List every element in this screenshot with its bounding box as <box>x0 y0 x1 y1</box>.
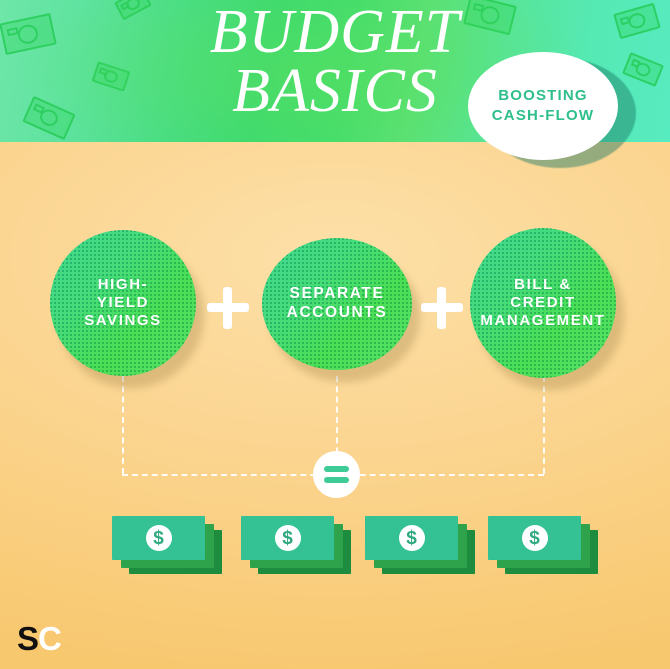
logo-letter-s: S <box>17 620 38 657</box>
connector-line-vertical <box>543 376 545 474</box>
title-line-1: BUDGET <box>0 4 670 61</box>
node-disc: SEPARATE ACCOUNTS <box>262 238 412 370</box>
node-label: HIGH- YIELD SAVINGS <box>84 276 162 331</box>
body-background <box>0 140 670 669</box>
money-stack: $ <box>365 516 475 578</box>
formula-node-separate-accounts[interactable]: SEPARATE ACCOUNTS <box>262 238 412 370</box>
node-disc: BILL & CREDIT MANAGEMENT <box>470 228 616 378</box>
bill-layer-front: $ <box>365 516 458 560</box>
dollar-icon: $ <box>275 525 301 551</box>
equals-bar-top <box>324 466 349 472</box>
equals-bar-bottom <box>324 477 349 483</box>
node-disc: HIGH- YIELD SAVINGS <box>50 230 196 376</box>
bill-layer-front: $ <box>112 516 205 560</box>
money-stack-row: $ $ $ $ <box>0 516 670 586</box>
formula-row: HIGH- YIELD SAVINGS SEPARATE ACCOUNTS BI… <box>0 228 670 388</box>
bill-layer-front: $ <box>241 516 334 560</box>
formula-node-bill-credit-management[interactable]: BILL & CREDIT MANAGEMENT <box>470 228 616 378</box>
badge-label: BOOSTING CASH-FLOW <box>492 86 594 127</box>
infographic-canvas: BUDGET BASICS BOOSTING CASH-FLOW HIGH- Y… <box>0 0 670 669</box>
money-stack: $ <box>488 516 598 578</box>
money-stack: $ <box>112 516 222 578</box>
equals-icon <box>313 451 360 498</box>
formula-node-high-yield-savings[interactable]: HIGH- YIELD SAVINGS <box>50 230 196 376</box>
dollar-icon: $ <box>146 525 172 551</box>
plus-icon <box>421 287 463 329</box>
brand-logo[interactable]: SC <box>17 622 61 655</box>
node-label: BILL & CREDIT MANAGEMENT <box>470 276 616 331</box>
logo-letter-c: C <box>38 620 61 657</box>
bill-layer-front: $ <box>488 516 581 560</box>
connector-line-vertical <box>122 376 124 474</box>
money-stack: $ <box>241 516 351 578</box>
node-label: SEPARATE ACCOUNTS <box>287 285 388 323</box>
boosting-cashflow-badge: BOOSTING CASH-FLOW <box>468 52 618 160</box>
dollar-icon: $ <box>522 525 548 551</box>
dollar-icon: $ <box>399 525 425 551</box>
plus-icon <box>207 287 249 329</box>
